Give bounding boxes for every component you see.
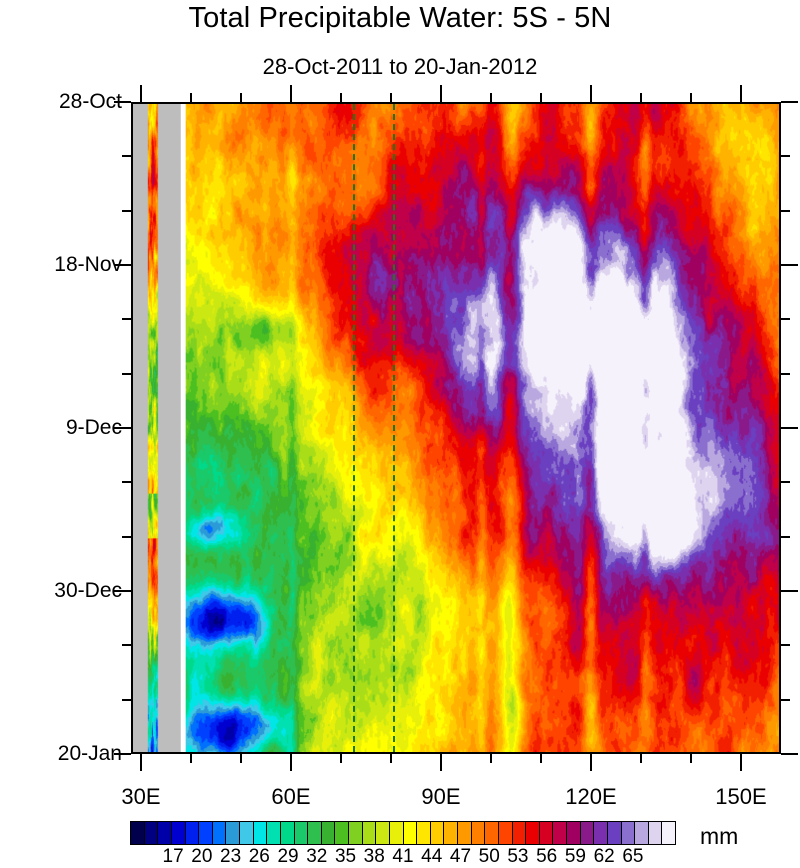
x-minor-tick-top-110: [540, 93, 542, 102]
colorbar-tick-65: 65: [622, 846, 643, 868]
hovmoller-plot-area[interactable]: [131, 102, 781, 754]
x-major-tick-top-90: [440, 85, 442, 102]
colorbar-swatch-19: [390, 822, 404, 844]
heatmap-canvas: [133, 104, 779, 752]
x-major-tick-top-120: [590, 85, 592, 102]
colorbar-tick-35: 35: [335, 846, 356, 868]
y-tick-label-30-dec: 30-Dec: [54, 579, 122, 603]
x-minor-tick-50: [240, 754, 242, 763]
colorbar-swatch-36: [622, 822, 636, 844]
colorbar-swatch-29: [526, 822, 540, 844]
colorbar-tick-23: 23: [220, 846, 241, 868]
colorbar-swatch-20: [404, 822, 418, 844]
colorbar-swatch-38: [649, 822, 663, 844]
y-major-tick-0: [114, 101, 131, 103]
colorbar-swatch-22: [431, 822, 445, 844]
y-major-tick-right-1: [781, 264, 798, 266]
x-tick-label-150e: 150E: [715, 784, 766, 810]
y-major-tick-1: [114, 264, 131, 266]
x-minor-tick-140: [690, 754, 692, 763]
colorbar-swatch-34: [594, 822, 608, 844]
x-minor-tick-top-80: [390, 93, 392, 102]
colorbar-swatch-39: [662, 822, 675, 844]
y-minor-tick-10: [122, 644, 131, 646]
colorbar-swatch-5: [199, 822, 213, 844]
colorbar-swatch-31: [553, 822, 567, 844]
colorbar-tick-47: 47: [450, 846, 471, 868]
x-tick-label-30e: 30E: [121, 784, 160, 810]
colorbar-swatch-16: [349, 822, 363, 844]
x-tick-label-120e: 120E: [565, 784, 616, 810]
colorbar-swatch-17: [363, 822, 377, 844]
colorbar-tick-56: 56: [536, 846, 557, 868]
x-major-tick-60: [290, 754, 292, 771]
y-major-tick-right-0: [781, 101, 798, 103]
y-major-tick-right-2: [781, 427, 798, 429]
y-minor-tick-11: [122, 699, 131, 701]
colorbar-tick-20: 20: [191, 846, 212, 868]
colorbar-swatch-28: [513, 822, 527, 844]
colorbar-tick-62: 62: [594, 846, 615, 868]
x-minor-tick-130: [640, 754, 642, 763]
colorbar-unit-label: mm: [700, 823, 738, 850]
y-axis-labels: 28-Oct18-Nov9-Dec30-Dec20-Jan: [0, 0, 122, 867]
y-minor-tick-right-1: [781, 155, 790, 157]
x-minor-tick-110: [540, 754, 542, 763]
colorbar-tick-53: 53: [507, 846, 528, 868]
colorbar-swatch-2: [158, 822, 172, 844]
y-minor-tick-7: [122, 481, 131, 483]
y-minor-tick-right-7: [781, 481, 790, 483]
colorbar-swatch-37: [635, 822, 649, 844]
colorbar-swatch-0: [131, 822, 145, 844]
y-minor-tick-right-10: [781, 644, 790, 646]
x-tick-label-60e: 60E: [271, 784, 310, 810]
colorbar-swatch-15: [335, 822, 349, 844]
colorbar-swatch-14: [322, 822, 336, 844]
y-minor-tick-right-4: [781, 318, 790, 320]
colorbar-swatch-1: [145, 822, 159, 844]
x-minor-tick-top-100: [490, 93, 492, 102]
x-minor-tick-80: [390, 754, 392, 763]
x-minor-tick-top-140: [690, 93, 692, 102]
colorbar-swatch-23: [444, 822, 458, 844]
colorbar-swatch-6: [213, 822, 227, 844]
colorbar-swatch-25: [472, 822, 486, 844]
colorbar-swatch-10: [267, 822, 281, 844]
colorbar-tick-29: 29: [277, 846, 298, 868]
x-tick-label-90e: 90E: [421, 784, 460, 810]
colorbar-tick-38: 38: [364, 846, 385, 868]
colorbar-tick-59: 59: [565, 846, 586, 868]
figure: Total Precipitable Water: 5S - 5N 28-Oct…: [0, 0, 800, 867]
colorbar-swatch-18: [376, 822, 390, 844]
colorbar-swatch-9: [254, 822, 268, 844]
colorbar-swatch-13: [308, 822, 322, 844]
y-tick-label-18-nov: 18-Nov: [54, 253, 122, 277]
colorbar-swatch-8: [240, 822, 254, 844]
colorbar-tick-44: 44: [421, 846, 442, 868]
colorbar-tick-17: 17: [163, 846, 184, 868]
y-minor-tick-right-5: [781, 373, 790, 375]
colorbar[interactable]: [130, 821, 676, 845]
x-major-tick-top-30: [140, 85, 142, 102]
x-major-tick-90: [440, 754, 442, 771]
colorbar-swatch-30: [540, 822, 554, 844]
y-minor-tick-right-8: [781, 536, 790, 538]
colorbar-tick-32: 32: [306, 846, 327, 868]
x-minor-tick-top-70: [340, 93, 342, 102]
colorbar-swatch-24: [458, 822, 472, 844]
x-major-tick-150: [740, 754, 742, 771]
x-minor-tick-100: [490, 754, 492, 763]
colorbar-swatch-4: [186, 822, 200, 844]
y-minor-tick-5: [122, 373, 131, 375]
y-minor-tick-8: [122, 536, 131, 538]
y-minor-tick-1: [122, 155, 131, 157]
y-minor-tick-2: [122, 210, 131, 212]
colorbar-swatch-21: [417, 822, 431, 844]
colorbar-swatch-32: [567, 822, 581, 844]
meridian-guide-line-2: [393, 104, 395, 752]
y-major-tick-4: [114, 753, 131, 755]
y-major-tick-3: [114, 590, 131, 592]
colorbar-swatch-35: [608, 822, 622, 844]
y-minor-tick-4: [122, 318, 131, 320]
y-major-tick-2: [114, 427, 131, 429]
x-major-tick-30: [140, 754, 142, 771]
colorbar-swatch-27: [499, 822, 513, 844]
y-minor-tick-right-11: [781, 699, 790, 701]
colorbar-swatch-26: [485, 822, 499, 844]
meridian-guide-line-1: [353, 104, 355, 752]
y-tick-label-28-oct: 28-Oct: [59, 90, 122, 114]
x-minor-tick-70: [340, 754, 342, 763]
x-major-tick-120: [590, 754, 592, 771]
y-minor-tick-right-2: [781, 210, 790, 212]
x-major-tick-top-60: [290, 85, 292, 102]
colorbar-tick-50: 50: [479, 846, 500, 868]
colorbar-tick-labels: 1720232629323538414447505356596265: [0, 846, 800, 868]
x-minor-tick-40: [190, 754, 192, 763]
x-minor-tick-top-50: [240, 93, 242, 102]
y-major-tick-right-3: [781, 590, 798, 592]
colorbar-swatch-3: [172, 822, 186, 844]
x-minor-tick-top-130: [640, 93, 642, 102]
colorbar-swatch-7: [226, 822, 240, 844]
colorbar-swatch-33: [581, 822, 595, 844]
x-minor-tick-top-40: [190, 93, 192, 102]
colorbar-swatch-11: [281, 822, 295, 844]
y-major-tick-right-4: [781, 753, 798, 755]
x-major-tick-top-150: [740, 85, 742, 102]
colorbar-tick-41: 41: [392, 846, 413, 868]
y-tick-label-20-jan: 20-Jan: [58, 742, 122, 766]
colorbar-tick-26: 26: [249, 846, 270, 868]
colorbar-swatch-12: [295, 822, 309, 844]
heatmap-canvas-wrap: [133, 104, 779, 752]
